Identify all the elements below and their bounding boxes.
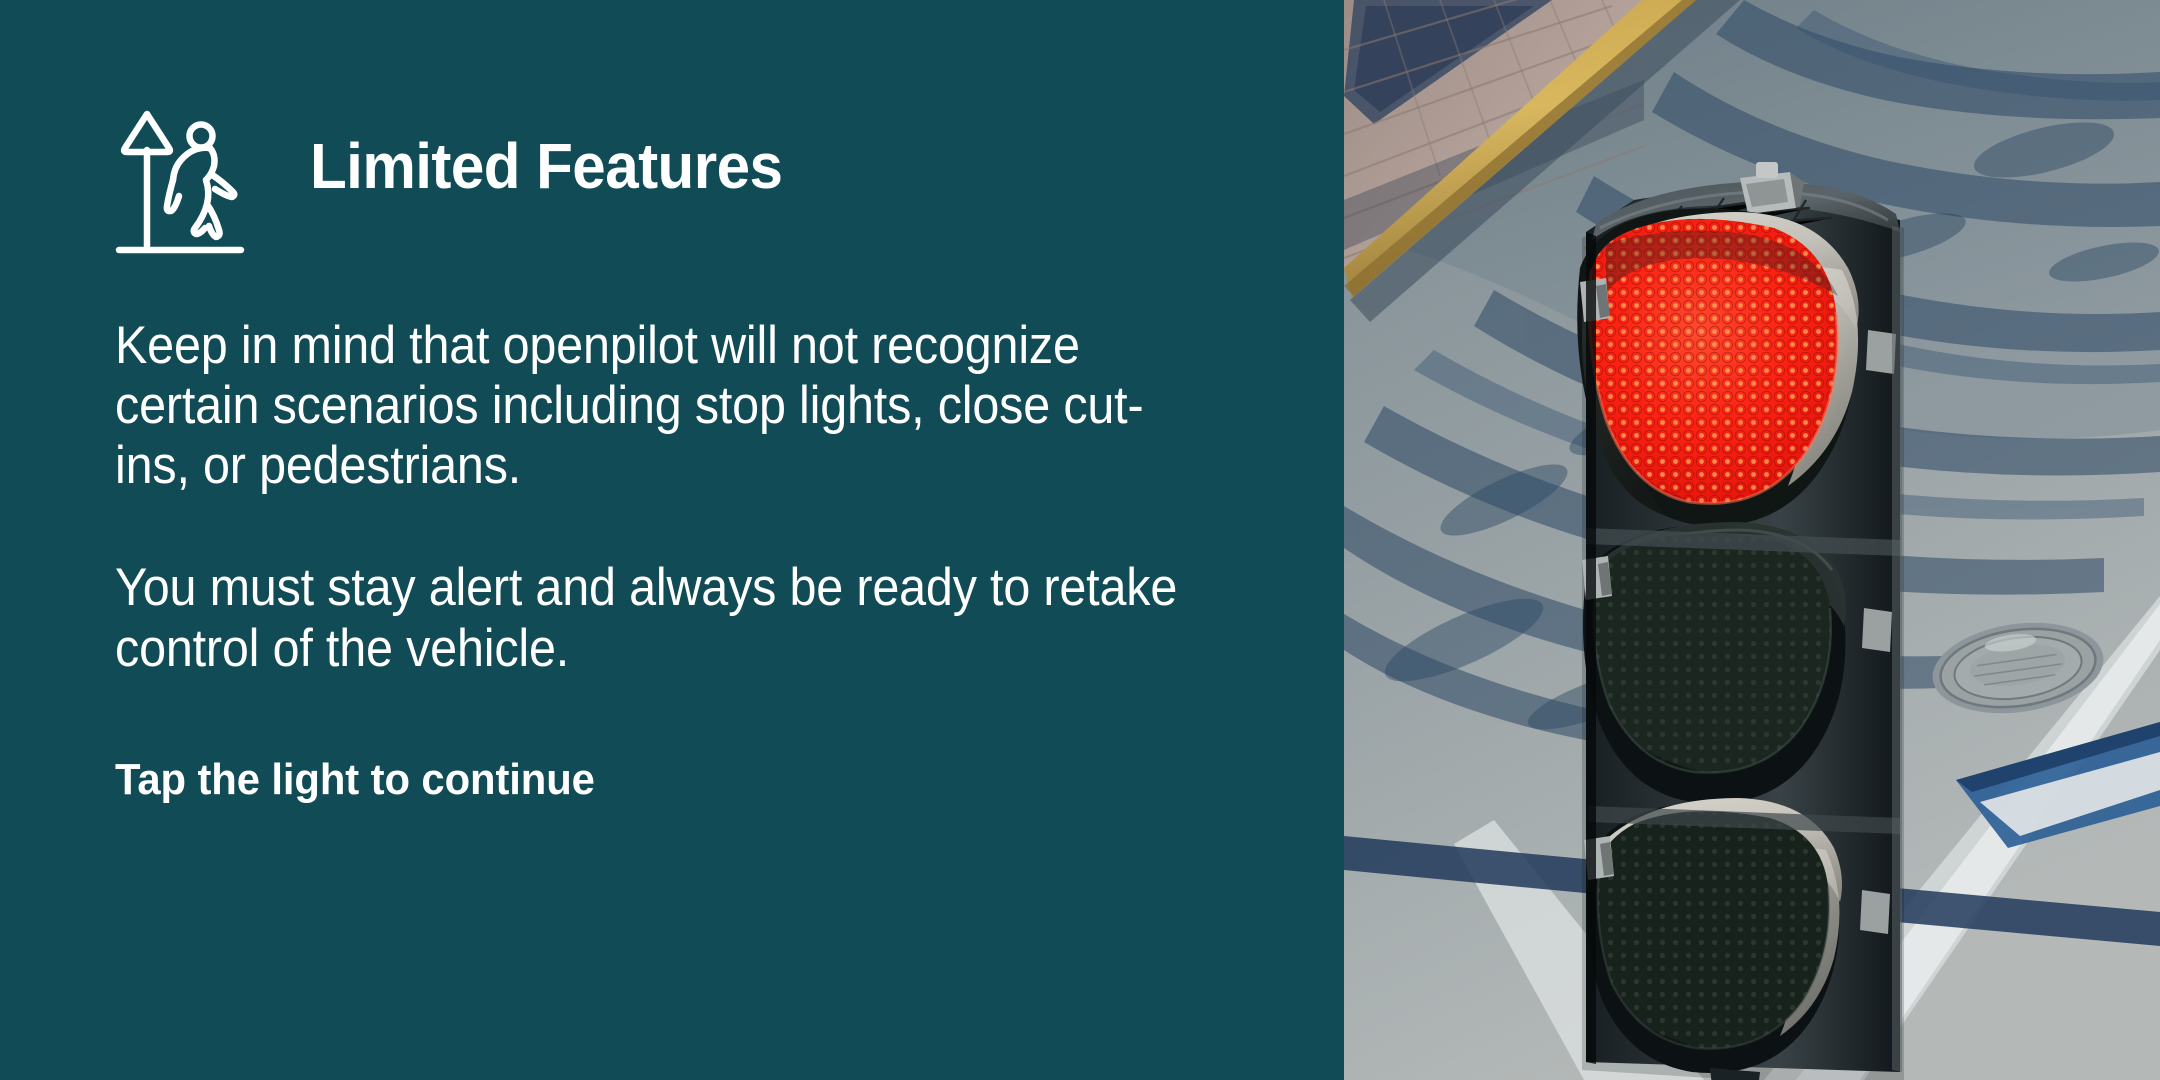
paragraph-stay-alert: You must stay alert and always be ready … <box>115 558 1195 678</box>
onboarding-screen: Limited Features Keep in mind that openp… <box>0 0 2160 1080</box>
info-panel: Limited Features Keep in mind that openp… <box>0 0 1344 1080</box>
traffic-light-tap-target[interactable] <box>1344 0 2160 1080</box>
pedestrian-crossing-icon <box>115 108 245 260</box>
tap-to-continue-label: Tap the light to continue <box>115 755 595 805</box>
header-row: Limited Features <box>115 104 1344 254</box>
body-copy: Keep in mind that openpilot will not rec… <box>115 316 1344 679</box>
page-title: Limited Features <box>310 134 782 198</box>
paragraph-limitations: Keep in mind that openpilot will not rec… <box>115 316 1195 496</box>
